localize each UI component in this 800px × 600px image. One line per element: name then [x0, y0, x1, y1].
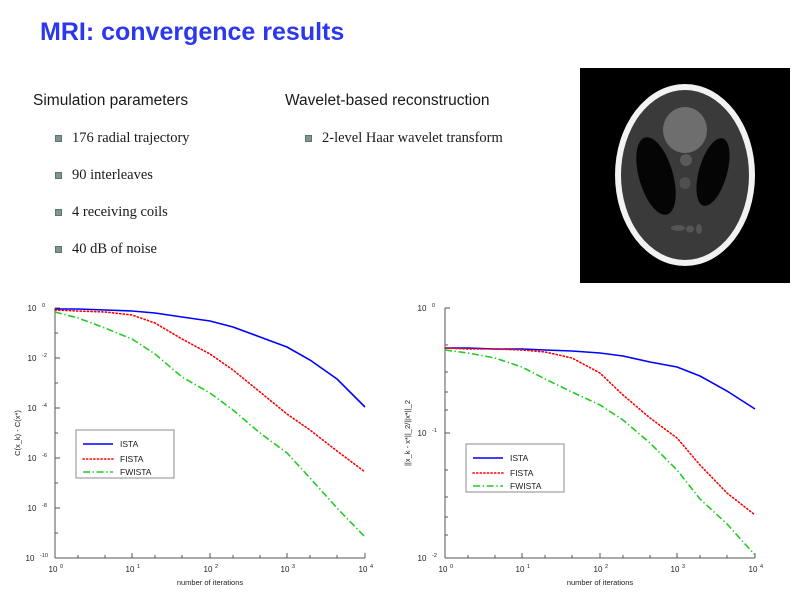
y-axis-label: ||x_k - x*||_2/||x*||_2: [403, 400, 412, 466]
chart-legend: ISTA FISTA FWISTA: [466, 444, 564, 492]
x-axis-label: number of iterations: [567, 578, 634, 587]
y-tick-exponent: -6: [42, 453, 47, 459]
x-tick-label: 10: [749, 565, 758, 574]
error-chart-svg: 10 0 10 -1 10 -2 10 0 10 1: [400, 292, 790, 592]
y-tick-label: 10: [28, 354, 37, 363]
list-item-label: 40 dB of noise: [72, 241, 157, 257]
cost-convergence-chart: 10 0 10 -2 10 -4 10 -6 10 -8 10 -10: [10, 292, 400, 592]
shepp-logan-phantom-image: [580, 68, 790, 283]
x-tick-exponent: 2: [605, 564, 608, 570]
y-tick-labels: 10 0 10 -1 10 -2: [418, 303, 437, 563]
list-item: 176 radial trajectory: [55, 131, 190, 146]
y-tick-label: 10: [418, 429, 427, 438]
list-item-label: 176 radial trajectory: [72, 130, 190, 146]
y-tick-label: 10: [418, 304, 427, 313]
wavelet-reconstruction-list: 2-level Haar wavelet transform: [305, 131, 503, 168]
y-tick-label: 10: [28, 304, 37, 313]
axes: [445, 308, 755, 558]
y-tick-exponent: 0: [432, 303, 435, 309]
y-tick-label: 10: [26, 554, 35, 563]
x-tick-labels: 10 0 10 1 10 2 10 3 10 4: [49, 564, 374, 574]
simulation-parameters-list: 176 radial trajectory 90 interleaves 4 r…: [55, 131, 190, 279]
relative-error-chart: 10 0 10 -1 10 -2 10 0 10 1: [400, 292, 790, 592]
x-tick-exponent: 3: [292, 564, 295, 570]
legend-label-fwista: FWISTA: [120, 467, 152, 477]
x-tick-exponent: 3: [682, 564, 685, 570]
x-tick-exponent: 0: [60, 564, 63, 570]
square-bullet-icon: [55, 135, 62, 142]
y-tick-exponent: -8: [42, 503, 47, 509]
y-axis-label: C(x_k) - C(x*): [13, 410, 22, 456]
list-item: 4 receiving coils: [55, 205, 190, 220]
chart-legend: ISTA FISTA FWISTA: [76, 430, 174, 478]
x-tick-label: 10: [439, 565, 448, 574]
y-tick-exponent: 0: [42, 303, 45, 309]
y-tick-label: 10: [418, 554, 427, 563]
y-tick-exponent: -10: [40, 553, 48, 559]
y-tick-exponent: -1: [432, 428, 437, 434]
x-tick-exponent: 0: [450, 564, 453, 570]
x-tick-label: 10: [594, 565, 603, 574]
y-tick-label: 10: [28, 504, 37, 513]
x-axis-label: number of iterations: [177, 578, 244, 587]
page-title: MRI: convergence results: [40, 18, 344, 47]
y-tick-exponent: -2: [432, 553, 437, 559]
x-ticks: [55, 553, 365, 558]
x-tick-label: 10: [126, 565, 135, 574]
legend-label-ista: ISTA: [120, 439, 139, 449]
y-tick-label: 10: [28, 404, 37, 413]
y-tick-exponent: -4: [42, 403, 47, 409]
square-bullet-icon: [55, 209, 62, 216]
simulation-parameters-heading: Simulation parameters: [33, 92, 188, 110]
series-line-ista: [55, 309, 365, 407]
square-bullet-icon: [55, 246, 62, 253]
wavelet-reconstruction-heading: Wavelet-based reconstruction: [285, 92, 489, 110]
square-bullet-icon: [55, 172, 62, 179]
list-item: 40 dB of noise: [55, 242, 190, 257]
list-item: 2-level Haar wavelet transform: [305, 131, 503, 146]
x-tick-label: 10: [281, 565, 290, 574]
list-item-label: 90 interleaves: [72, 167, 153, 183]
phantom-svg: [580, 68, 790, 283]
square-bullet-icon: [305, 135, 312, 142]
x-tick-exponent: 4: [370, 564, 373, 570]
x-tick-label: 10: [49, 565, 58, 574]
list-item-label: 4 receiving coils: [72, 204, 168, 220]
series-line-fwista: [55, 312, 365, 537]
list-item-label: 2-level Haar wavelet transform: [322, 130, 503, 146]
cost-chart-svg: 10 0 10 -2 10 -4 10 -6 10 -8 10 -10: [10, 292, 400, 592]
legend-label-fista: FISTA: [510, 468, 534, 478]
x-tick-label: 10: [359, 565, 368, 574]
x-tick-exponent: 2: [215, 564, 218, 570]
legend-label-ista: ISTA: [510, 453, 529, 463]
list-item: 90 interleaves: [55, 168, 190, 183]
y-tick-labels: 10 0 10 -2 10 -4 10 -6 10 -8 10 -10: [26, 303, 48, 563]
legend-label-fista: FISTA: [120, 454, 144, 464]
series-curves: [55, 309, 365, 537]
x-tick-exponent: 1: [137, 564, 140, 570]
x-tick-exponent: 1: [527, 564, 530, 570]
x-tick-label: 10: [516, 565, 525, 574]
x-ticks: [445, 553, 755, 558]
y-tick-label: 10: [28, 454, 37, 463]
x-tick-label: 10: [204, 565, 213, 574]
y-tick-exponent: -2: [42, 353, 47, 359]
y-ticks: [55, 308, 60, 558]
legend-label-fwista: FWISTA: [510, 481, 542, 491]
y-ticks: [445, 308, 450, 558]
x-tick-labels: 10 0 10 1 10 2 10 3 10 4: [439, 564, 764, 574]
x-tick-exponent: 4: [760, 564, 763, 570]
x-tick-label: 10: [671, 565, 680, 574]
